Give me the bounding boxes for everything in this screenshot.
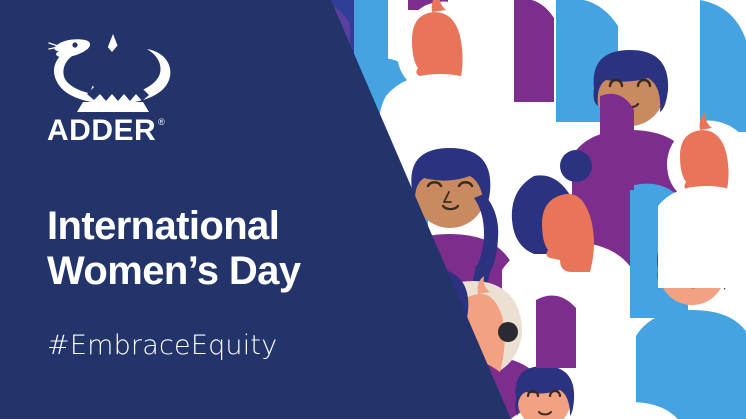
iwd-banner: ADDER ® International Women’s Day #Embra… bbox=[0, 0, 746, 419]
adder-logo[interactable]: ADDER ® bbox=[47, 30, 179, 146]
registered-trademark-symbol: ® bbox=[158, 118, 165, 127]
page-title: International Women’s Day bbox=[47, 204, 377, 294]
headline-line-2: Women’s Day bbox=[47, 249, 377, 294]
hashtag-text: #EmbraceEquity bbox=[47, 330, 746, 361]
adder-wordmark: ADDER bbox=[47, 116, 156, 146]
adder-snake-pyramid-logo bbox=[47, 30, 179, 115]
headline-line-1: International bbox=[47, 204, 279, 248]
banner-content: ADDER ® International Women’s Day #Embra… bbox=[0, 0, 746, 419]
